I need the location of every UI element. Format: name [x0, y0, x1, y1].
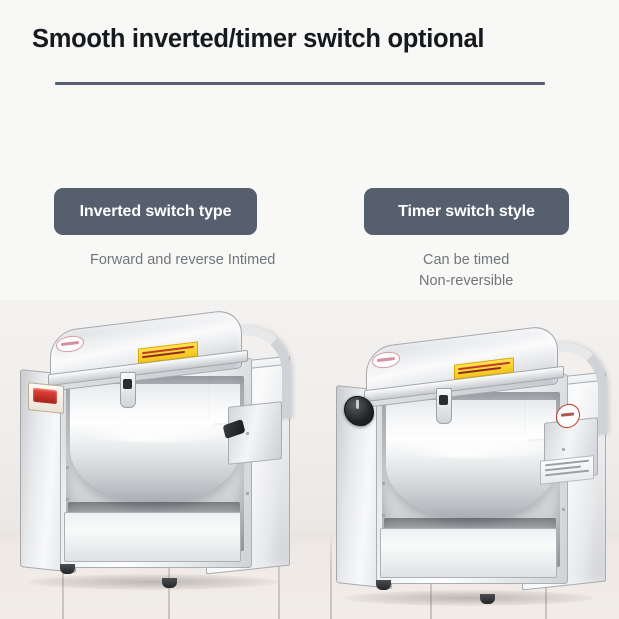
lid-latch[interactable] — [436, 388, 452, 424]
caption-line-2: Intimed — [228, 252, 276, 268]
rivet — [66, 466, 69, 469]
option-caption-inverted: Forward and reverse Intimed — [90, 250, 275, 271]
red-rocker-switch[interactable] — [28, 382, 64, 414]
machine-shadow — [344, 590, 594, 606]
machine-foot — [60, 564, 75, 574]
title-divider — [55, 82, 545, 85]
product-feature-page: Smooth inverted/timer switch optional In… — [0, 0, 619, 619]
rivet — [382, 482, 385, 485]
drum-highlight — [80, 426, 228, 442]
front-panel — [380, 528, 557, 578]
rivet — [246, 432, 249, 435]
machine-foot — [162, 578, 177, 588]
dough-mixer-timer — [330, 332, 608, 602]
dough-mixer-inverted — [14, 316, 292, 586]
option-badge-label: Inverted switch type — [80, 203, 232, 221]
rivet — [382, 514, 385, 517]
option-badge-timer[interactable]: Timer switch style — [364, 188, 569, 235]
front-panel — [64, 512, 241, 562]
rivet — [562, 448, 565, 451]
caption-line-2: Non-reversible — [419, 271, 513, 292]
rivet — [562, 508, 565, 511]
machine-foot — [480, 594, 495, 604]
lid-latch[interactable] — [120, 372, 136, 408]
caption-line-1: Can be timed — [419, 250, 513, 271]
caption-line-1: Forward and reverse — [90, 252, 224, 268]
machine-shadow — [28, 574, 278, 590]
option-badge-label: Timer switch style — [398, 203, 535, 221]
page-title: Smooth inverted/timer switch optional — [32, 25, 484, 54]
rivet — [246, 492, 249, 495]
option-badge-inverted[interactable]: Inverted switch type — [54, 188, 257, 235]
option-caption-timer: Can be timed Non-reversible — [419, 250, 513, 292]
product-photo-scene — [0, 300, 619, 619]
rivet — [66, 498, 69, 501]
drum-highlight — [396, 442, 544, 458]
machine-foot — [376, 580, 391, 590]
